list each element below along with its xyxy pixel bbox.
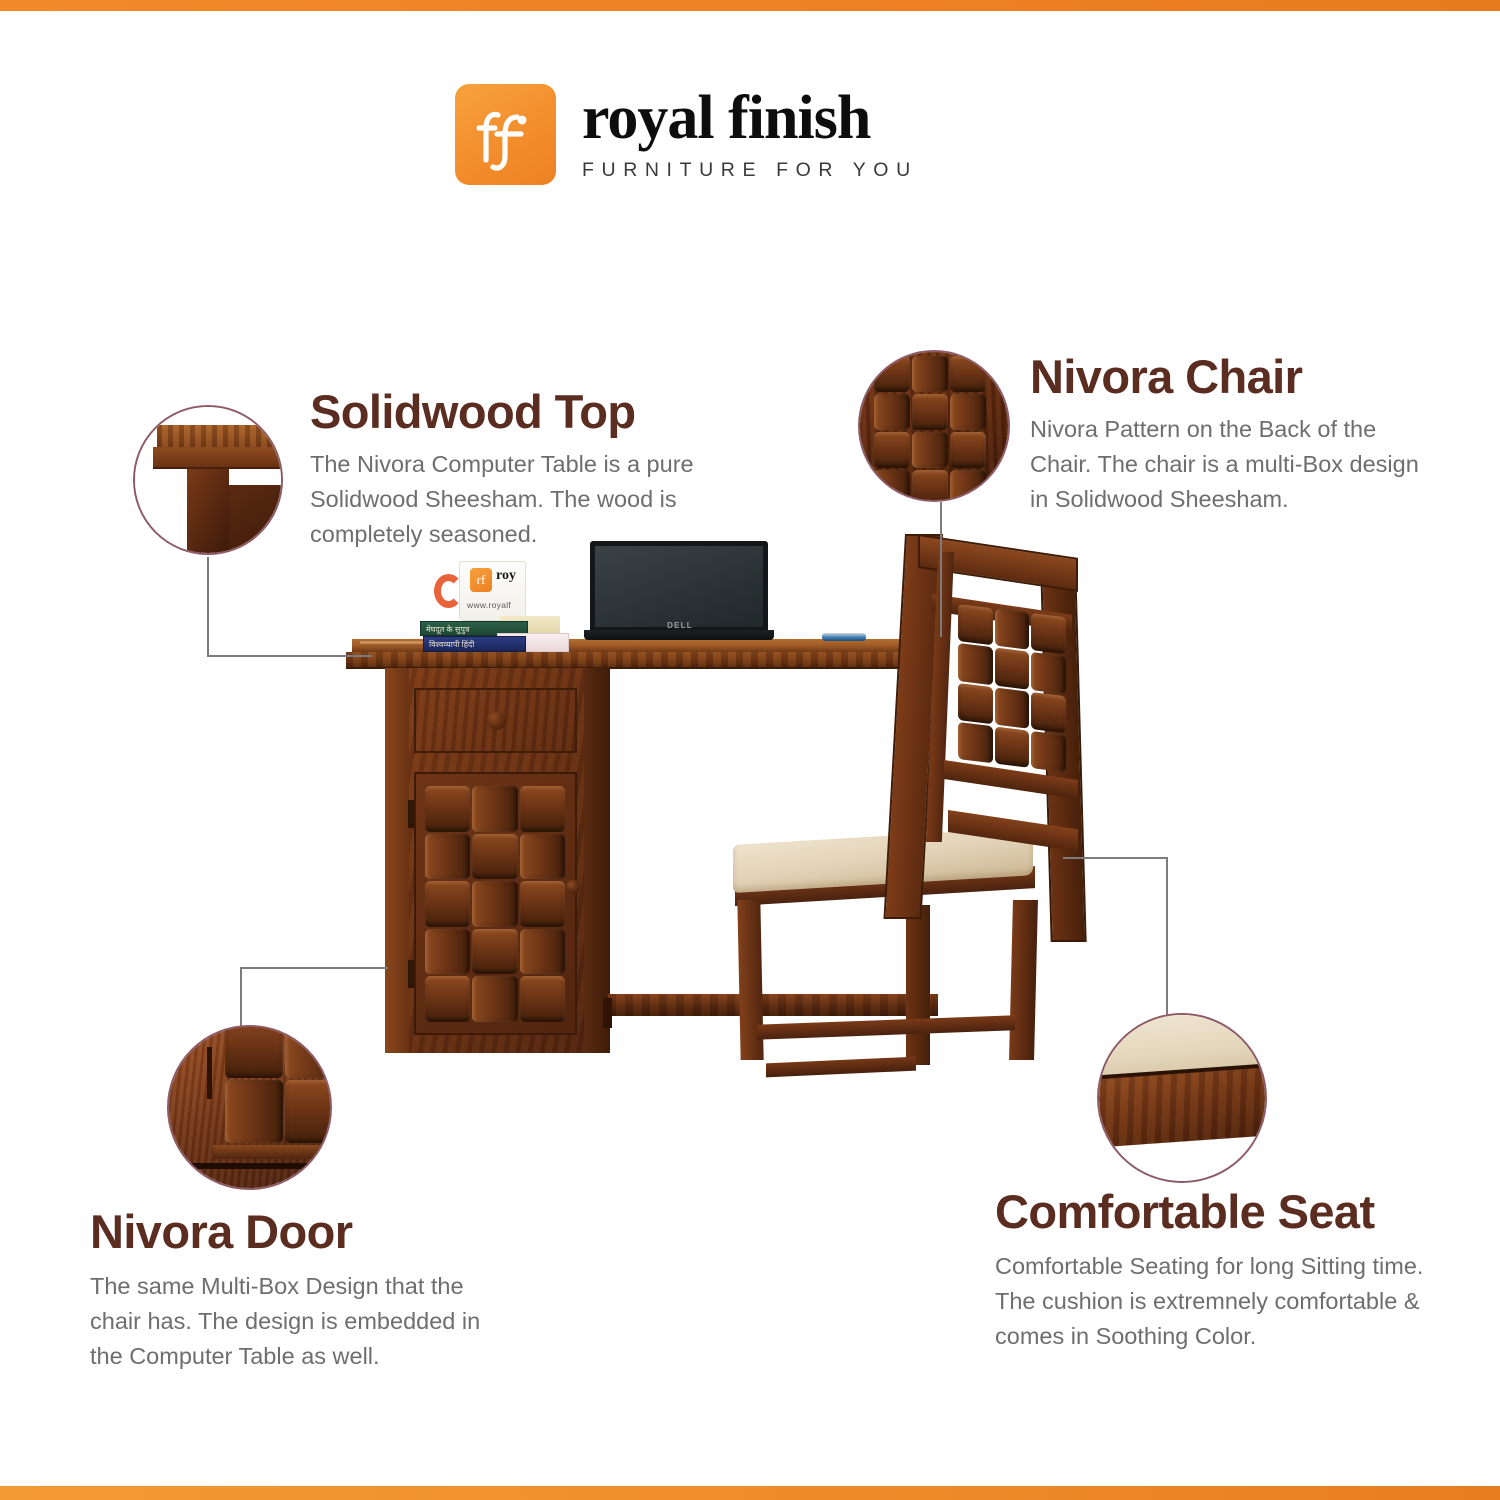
- book-green: मेघदूत के सुपुत्र: [420, 621, 528, 636]
- leader-line-seat-vertical: [1166, 857, 1168, 1017]
- desk-cabinet-door: [414, 772, 577, 1035]
- callout-circle-nivora-door: [167, 1025, 332, 1190]
- bottom-accent-bar: [0, 1486, 1500, 1500]
- chair-back-left-leg: [906, 905, 930, 1065]
- book-cream: [500, 616, 560, 636]
- chair-seat-apron: [735, 866, 1035, 906]
- chair-front-left-leg: [737, 900, 763, 1060]
- drawer-knob-icon: [487, 711, 506, 730]
- book-blue-title: विश्वव्यापी हिंदी: [429, 639, 474, 650]
- callout-circle-comfortable-seat: [1097, 1013, 1267, 1183]
- brand-name: royal finish: [582, 83, 982, 153]
- door-hinge-lower-icon: [408, 960, 414, 988]
- mug-brand-text: roy: [496, 568, 516, 584]
- door-knob-icon: [566, 880, 580, 894]
- branded-mug: [459, 561, 526, 621]
- desk-pedestal-right-panel: [584, 668, 610, 1053]
- feature-solidwood-top: Solidwood Top The Nivora Computer Table …: [310, 385, 730, 552]
- book-green-title: मेघदूत के सुपुत्र: [426, 624, 469, 635]
- feature-body: Nivora Pattern on the Back of the Chair.…: [1030, 412, 1430, 517]
- chair-top-rail: [918, 534, 1078, 592]
- feature-nivora-chair: Nivora Chair Nivora Pattern on the Back …: [1030, 350, 1430, 517]
- mug-handle-icon: [434, 574, 463, 608]
- feature-body: The Nivora Computer Table is a pure Soli…: [310, 447, 730, 552]
- laptop-screen: [590, 541, 768, 632]
- table-edge-closeup-icon: [135, 407, 281, 553]
- desk-stretcher-joint: [603, 998, 612, 1028]
- feature-body: Comfortable Seating for long Sitting tim…: [995, 1249, 1445, 1354]
- desk-pedestal-left-panel: [385, 668, 409, 1053]
- desk-right-leg: [906, 660, 922, 1005]
- desk-top-highlight: [360, 641, 560, 644]
- seat-cushion-closeup-icon: [1099, 1015, 1265, 1181]
- callout-circle-solidwood-top: [133, 405, 283, 555]
- leader-line-seat-horizontal: [1063, 857, 1168, 859]
- leader-line-door-vertical: [240, 967, 242, 1027]
- leader-line-chair-vertical: [940, 502, 942, 637]
- mug-url-text: www.royalf: [467, 600, 511, 610]
- leader-line-solidwood-vertical: [207, 557, 209, 657]
- feature-nivora-door: Nivora Door The same Multi-Box Design th…: [90, 1205, 510, 1374]
- chair-weave-closeup-icon: [860, 352, 1008, 500]
- chair-multibox-weave-pattern: [958, 604, 1066, 772]
- feature-title: Nivora Chair: [1030, 350, 1430, 404]
- chair-front-right-leg: [1009, 900, 1038, 1060]
- chair-back-left-stile: [883, 534, 943, 919]
- feature-body: The same Multi-Box Design that the chair…: [90, 1269, 510, 1374]
- mug-rf-logo-icon: rf: [470, 568, 492, 592]
- brand-logo: royal finish FURNITURE FOR YOU: [455, 83, 985, 191]
- door-weave-closeup-icon: [169, 1027, 330, 1188]
- desk-pedestal: [385, 668, 610, 1053]
- door-hinge-upper-icon: [408, 800, 414, 828]
- top-accent-bar: [0, 0, 1500, 11]
- laptop-brand-label: DELL: [660, 621, 700, 630]
- feature-comfortable-seat: Comfortable Seat Comfortable Seating for…: [995, 1185, 1445, 1354]
- desk-drawer: [414, 688, 577, 753]
- chair-back-bottom-rail: [948, 810, 1078, 851]
- leader-line-door-horizontal: [240, 967, 388, 969]
- feature-title: Solidwood Top: [310, 385, 730, 439]
- laptop-base: [584, 630, 774, 640]
- desk-stretcher-bar: [608, 994, 938, 1016]
- feature-title: Comfortable Seat: [995, 1185, 1445, 1239]
- chair-stretcher-lower: [766, 1057, 916, 1078]
- book-pink: [497, 633, 569, 652]
- feature-title: Nivora Door: [90, 1205, 510, 1259]
- leader-line-solidwood-horizontal: [207, 655, 372, 657]
- chair-stretcher-upper: [757, 1015, 1015, 1039]
- mobile-phone: [822, 633, 866, 641]
- chair-seat-cushion: [733, 827, 1033, 893]
- chair-back-rail-lower: [944, 760, 1078, 799]
- desk-top-edge: [346, 652, 916, 669]
- callout-circle-nivora-chair: [858, 350, 1010, 502]
- chair-back-right-stile: [1040, 560, 1087, 942]
- book-blue: विश्वव्यापी हिंदी: [423, 636, 526, 652]
- door-multibox-weave-pattern: [425, 786, 565, 1022]
- chair-back-rail-upper: [932, 594, 1072, 632]
- desk-top-surface: [352, 639, 912, 652]
- rf-monogram-icon: [455, 84, 556, 185]
- brand-tagline: FURNITURE FOR YOU: [582, 159, 982, 182]
